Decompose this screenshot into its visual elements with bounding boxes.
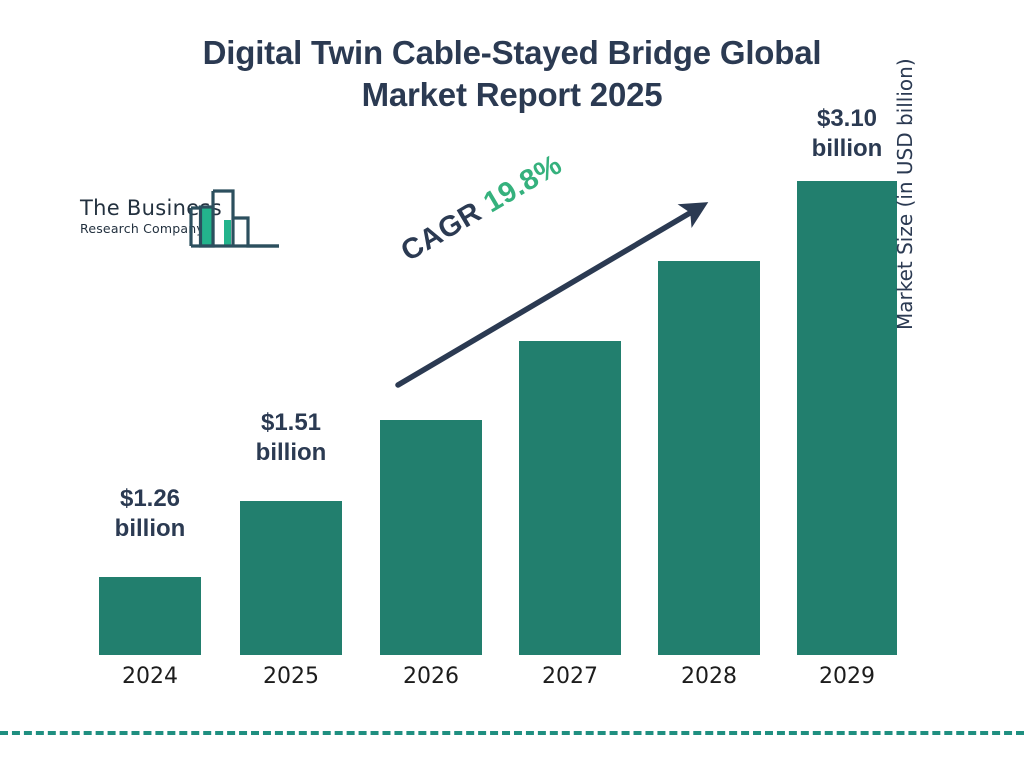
- chart-canvas: Digital Twin Cable-Stayed Bridge Global …: [0, 0, 1024, 768]
- bar-value-amount-2029: $3.10: [787, 104, 907, 134]
- bar-2027[interactable]: [519, 341, 621, 655]
- bar-value-2029: $3.10 billion: [787, 104, 907, 164]
- footer-divider: [0, 731, 1024, 735]
- bar-2024[interactable]: [99, 577, 201, 655]
- bar-value-unit-2029: billion: [787, 134, 907, 164]
- bar-value-amount-2024: $1.26: [90, 484, 210, 514]
- bar-2028[interactable]: [658, 261, 760, 655]
- bar-2025[interactable]: [240, 501, 342, 655]
- x-tick-2028: 2028: [649, 664, 769, 689]
- bar-value-unit-2025: billion: [231, 438, 351, 468]
- bar-value-unit-2024: billion: [90, 514, 210, 544]
- x-tick-2024: 2024: [90, 664, 210, 689]
- bar-2029[interactable]: [797, 181, 897, 655]
- bar-chart-plot-area: $1.26 billion $1.51 billion $3.10 billio…: [0, 0, 1024, 768]
- y-axis-title: Market Size (in USD billion): [893, 0, 917, 330]
- bar-value-2025: $1.51 billion: [231, 408, 351, 468]
- x-tick-2027: 2027: [510, 664, 630, 689]
- x-tick-2026: 2026: [371, 664, 491, 689]
- x-tick-2029: 2029: [787, 664, 907, 689]
- bar-value-2024: $1.26 billion: [90, 484, 210, 544]
- x-tick-2025: 2025: [231, 664, 351, 689]
- bar-2026[interactable]: [380, 420, 482, 655]
- bar-value-amount-2025: $1.51: [231, 408, 351, 438]
